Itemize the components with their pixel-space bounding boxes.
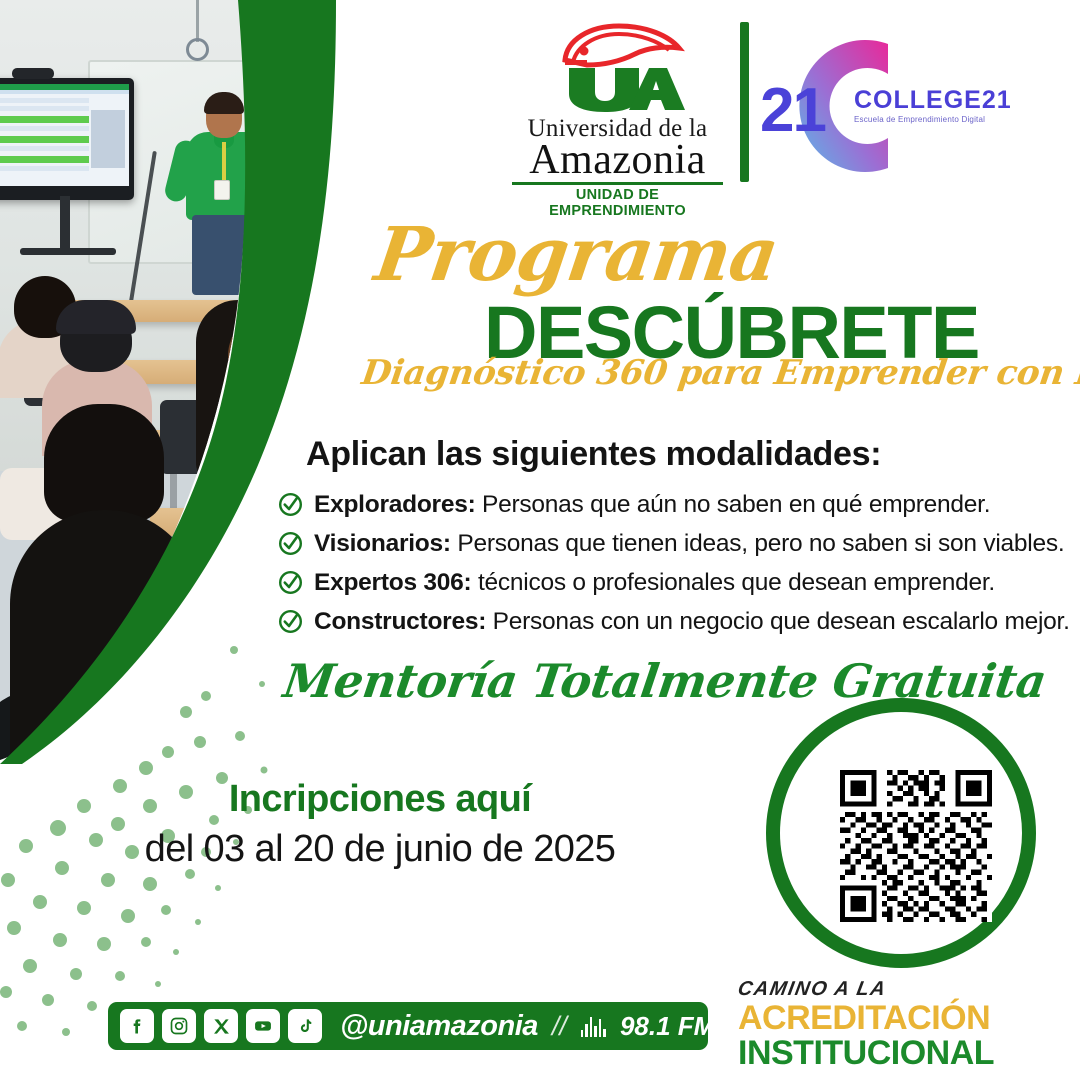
check-circle-icon [278,609,303,634]
instagram-icon[interactable] [162,1009,196,1043]
mentoria-tagline: Mentoría Totalmente Gratuita [281,658,1049,704]
accreditation-line3: INSTITUCIONAL [738,1036,998,1071]
poster-canvas: Universidad de la Amazonia UNIDAD DE EMP… [0,0,1080,1080]
title-programa: Programa [371,218,782,292]
x-twitter-icon[interactable] [204,1009,238,1043]
list-item: Constructores: Personas con un negocio q… [278,602,1068,641]
modality-name: Visionarios: [314,530,451,557]
check-circle-icon [278,531,303,556]
modality-name: Exploradores: [314,491,476,518]
college21-badge-number: 21 [760,80,825,142]
university-name-line2: Amazonia [510,141,725,181]
qr-code-ring[interactable] [766,698,1036,968]
modalities-heading: Aplican las siguientes modalidades: [306,435,881,474]
logo-divider [740,22,749,182]
modality-name: Constructores: [314,608,486,635]
college21-logo: 21 COLLEGE21 Escuela de Emprendimiento D… [758,26,1008,186]
list-item: Expertos 306: técnicos o profesionales q… [278,563,1068,602]
check-circle-icon [278,492,303,517]
modality-desc: Personas que tienen ideas, pero no saben… [451,530,1065,557]
accreditation-line2: ACREDITACIÓN [738,1001,998,1036]
modalities-list: Exploradores: Personas que aún no saben … [278,485,1068,641]
accreditation-logo: CAMINO A LA ACREDITACIÓN INSTITUCIONAL [738,978,998,1070]
program-title-block: Programa DESCÚBRETE Diagnóstico 360 para… [352,222,1052,402]
social-handle: @uniamazonia [340,1010,538,1043]
modality-desc: Personas con un negocio que desean escal… [486,608,1070,635]
universidad-amazonia-logo: Universidad de la Amazonia UNIDAD DE EMP… [510,18,725,219]
modality-desc: Personas que aún no saben en qué emprend… [476,491,991,518]
youtube-icon[interactable] [246,1009,280,1043]
header-logos: Universidad de la Amazonia UNIDAD DE EMP… [490,18,1010,208]
toucan-ua-crest-icon [543,18,693,114]
modality-name: Expertos 306: [314,569,471,596]
tiktok-icon[interactable] [288,1009,322,1043]
list-item: Visionarios: Personas que tienen ideas, … [278,524,1068,563]
facebook-icon[interactable] [120,1009,154,1043]
college21-subtitle: Escuela de Emprendimiento Digital [854,115,1012,124]
registration-cta: Incripciones aquí [0,778,760,821]
modality-desc: técnicos o profesionales que desean empr… [471,569,995,596]
list-item: Exploradores: Personas que aún no saben … [278,485,1068,524]
radio-frequency: 98.1 FM [620,1011,715,1042]
footer-separator: // [552,1011,567,1042]
audio-waveform-icon [581,1015,606,1037]
check-circle-icon [278,570,303,595]
title-subtitle: Diagnóstico 360 para Emprender con Éxito [360,356,1080,390]
qr-code-icon[interactable] [840,770,992,922]
registration-dates: del 03 al 20 de junio de 2025 [0,828,760,871]
accreditation-line1: CAMINO A LA [736,978,1000,1001]
college21-title: COLLEGE21 [854,88,1012,113]
social-media-bar: @uniamazonia // 98.1 FM [108,1002,708,1050]
